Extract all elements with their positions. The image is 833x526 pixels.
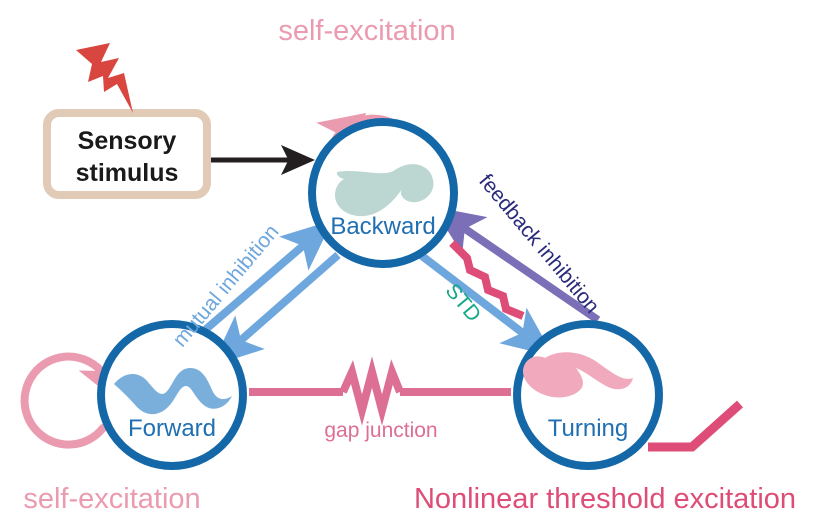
- node-turning-ring[interactable]: [517, 324, 659, 466]
- node-turning[interactable]: Turning: [517, 324, 659, 466]
- node-backward[interactable]: Backward: [312, 122, 454, 264]
- resistor-icon: [343, 372, 400, 410]
- node-turning-label: Turning: [548, 415, 628, 442]
- node-forward[interactable]: Forward: [101, 324, 243, 466]
- nonlinear-threshold-curve-icon: [648, 404, 740, 447]
- top-self-excitation-label: self-excitation: [278, 15, 455, 47]
- diagram-canvas: Backward Forward Turning Sensory stimulu…: [0, 0, 833, 526]
- gap-junction-line: [249, 372, 511, 410]
- mutual-inhibition-label: mutual inhibition: [168, 220, 283, 351]
- sensory-stimulus-line2: stimulus: [76, 159, 179, 187]
- sensory-stimulus-line1: Sensory: [78, 127, 177, 155]
- sensory-stimulus-box[interactable]: Sensory stimulus: [47, 113, 207, 195]
- bottom-right-threshold-label: Nonlinear threshold excitation: [414, 483, 796, 515]
- bottom-left-self-excitation-label: self-excitation: [23, 483, 200, 515]
- std-label: STD: [441, 279, 486, 326]
- lightning-bolt-icon: [76, 43, 133, 113]
- forward-self-excitation-loop: [25, 357, 108, 445]
- node-backward-label: Backward: [330, 213, 435, 240]
- node-forward-label: Forward: [128, 415, 216, 442]
- gap-junction-label: gap junction: [324, 419, 437, 442]
